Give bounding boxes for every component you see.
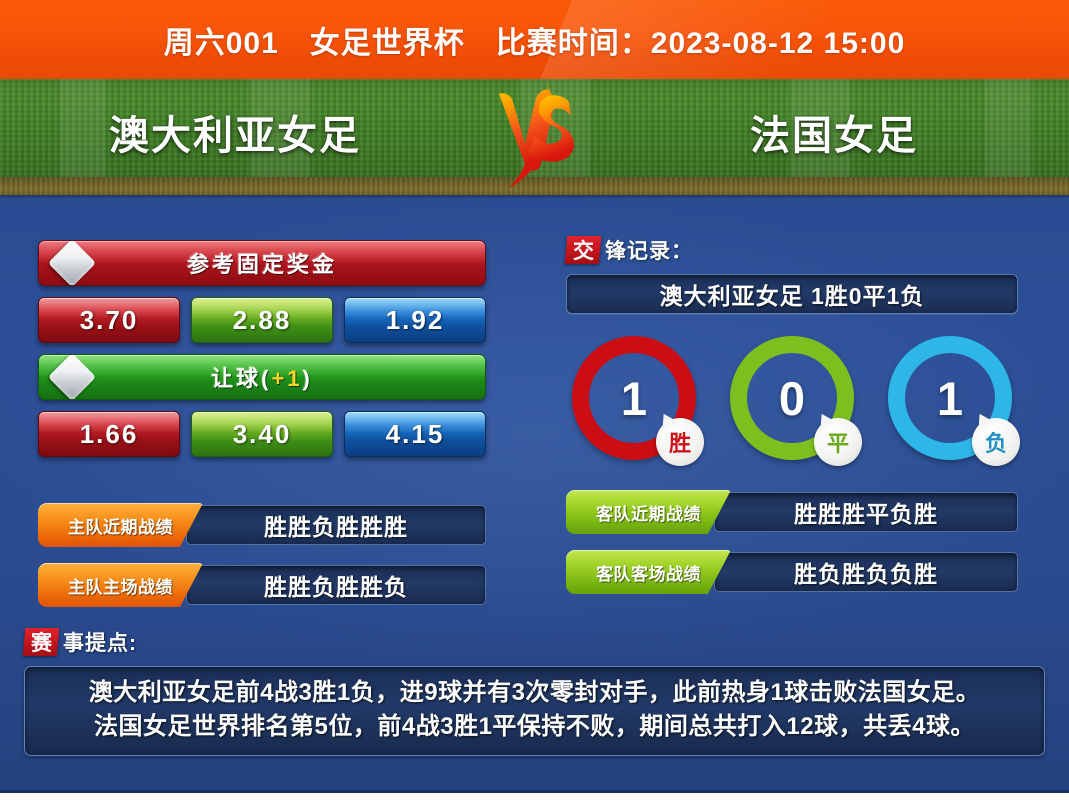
h2h-ring-wins: 1 胜 (572, 336, 696, 460)
tips-line-2: 法国女足世界排名第5位，前4战3胜1平保持不败，期间总共打入12球，共丢4球。 (41, 710, 1028, 744)
fixed-prize-title-bar: 参考固定奖金 (38, 240, 486, 286)
home-venue-form-value: 胜胜负胜胜负 (186, 565, 486, 605)
home-recent-form-row: 胜胜负胜胜胜 主队近期战绩 (38, 503, 486, 547)
match-tips-section: 赛 事提点: 澳大利亚女足前4战3胜1负，进9球并有3次零封对手，此前热身1球击… (24, 627, 1045, 756)
home-venue-form-label: 主队主场战绩 (38, 563, 203, 607)
h2h-rings: 1 胜 0 平 1 负 (566, 336, 1018, 460)
header-bar: 周六001 女足世界杯 比赛时间：2023-08-12 15:00 (0, 0, 1069, 79)
odds-column: 参考固定奖金 3.70 2.88 1.92 让球(+1) 1.66 (38, 240, 486, 607)
tips-label-text: 事提点: (63, 627, 137, 657)
home-venue-form-row: 胜胜负胜胜负 主队主场战绩 (38, 563, 486, 607)
home-recent-form-label: 主队近期战绩 (38, 503, 203, 547)
handicap-odds-row: 1.66 3.40 4.15 (38, 411, 486, 457)
handicap-title-bar: 让球(+1) (38, 354, 486, 400)
away-recent-form-value: 胜胜胜平负胜 (714, 492, 1018, 532)
fixed-odds-row: 3.70 2.88 1.92 (38, 297, 486, 343)
odd-home-win[interactable]: 3.70 (38, 297, 180, 343)
match-preview-infographic: 周六001 女足世界杯 比赛时间：2023-08-12 15:00 澳大利亚女足… (0, 0, 1069, 801)
tips-label-chip: 赛 (23, 628, 59, 656)
handicap-odd-home-win[interactable]: 1.66 (38, 411, 180, 457)
handicap-odd-away-win[interactable]: 4.15 (344, 411, 486, 457)
tips-section-label: 赛 事提点: (24, 627, 1045, 657)
h2h-ring-draws: 0 平 (730, 336, 854, 460)
versus-icon (485, 72, 585, 190)
h2h-label-chip: 交 (565, 236, 601, 264)
home-team-name: 澳大利亚女足 (0, 97, 470, 167)
head-to-head-column: 交 锋记录： 澳大利亚女足 1胜0平1负 1 胜 0 平 (566, 235, 1018, 594)
handicap-label: 让球(+1) (211, 361, 313, 393)
away-recent-form-label: 客队近期战绩 (566, 490, 731, 534)
h2h-summary: 澳大利亚女足 1胜0平1负 (566, 274, 1018, 314)
diamond-icon (48, 354, 96, 400)
handicap-odd-draw[interactable]: 3.40 (191, 411, 333, 457)
away-team-name: 法国女足 (599, 97, 1069, 167)
content-panel: 参考固定奖金 3.70 2.88 1.92 让球(+1) 1.66 (0, 195, 1069, 793)
handicap-value: +1 (271, 366, 302, 391)
h2h-section-label: 交 锋记录： (566, 235, 1018, 265)
away-venue-form-label: 客队客场战绩 (566, 550, 731, 594)
h2h-ring-losses: 1 负 (888, 336, 1012, 460)
h2h-draw-badge: 平 (814, 418, 862, 466)
h2h-win-badge: 胜 (656, 418, 704, 466)
away-recent-form-row: 胜胜胜平负胜 客队近期战绩 (566, 490, 1018, 534)
tips-box: 澳大利亚女足前4战3胜1负，进9球并有3次零封对手，此前热身1球击败法国女足。 … (24, 666, 1045, 756)
odd-away-win[interactable]: 1.92 (344, 297, 486, 343)
fixed-prize-title: 参考固定奖金 (187, 247, 337, 279)
h2h-label-text: 锋记录： (605, 235, 693, 265)
odd-draw[interactable]: 2.88 (191, 297, 333, 343)
away-venue-form-value: 胜负胜负负胜 (714, 552, 1018, 592)
home-recent-form-value: 胜胜负胜胜胜 (186, 505, 486, 545)
diamond-icon (48, 240, 96, 286)
tips-line-1: 澳大利亚女足前4战3胜1负，进9球并有3次零封对手，此前热身1球击败法国女足。 (41, 676, 1028, 710)
away-venue-form-row: 胜负胜负负胜 客队客场战绩 (566, 550, 1018, 594)
page-title: 周六001 女足世界杯 比赛时间：2023-08-12 15:00 (0, 0, 1069, 79)
h2h-loss-badge: 负 (972, 418, 1020, 466)
